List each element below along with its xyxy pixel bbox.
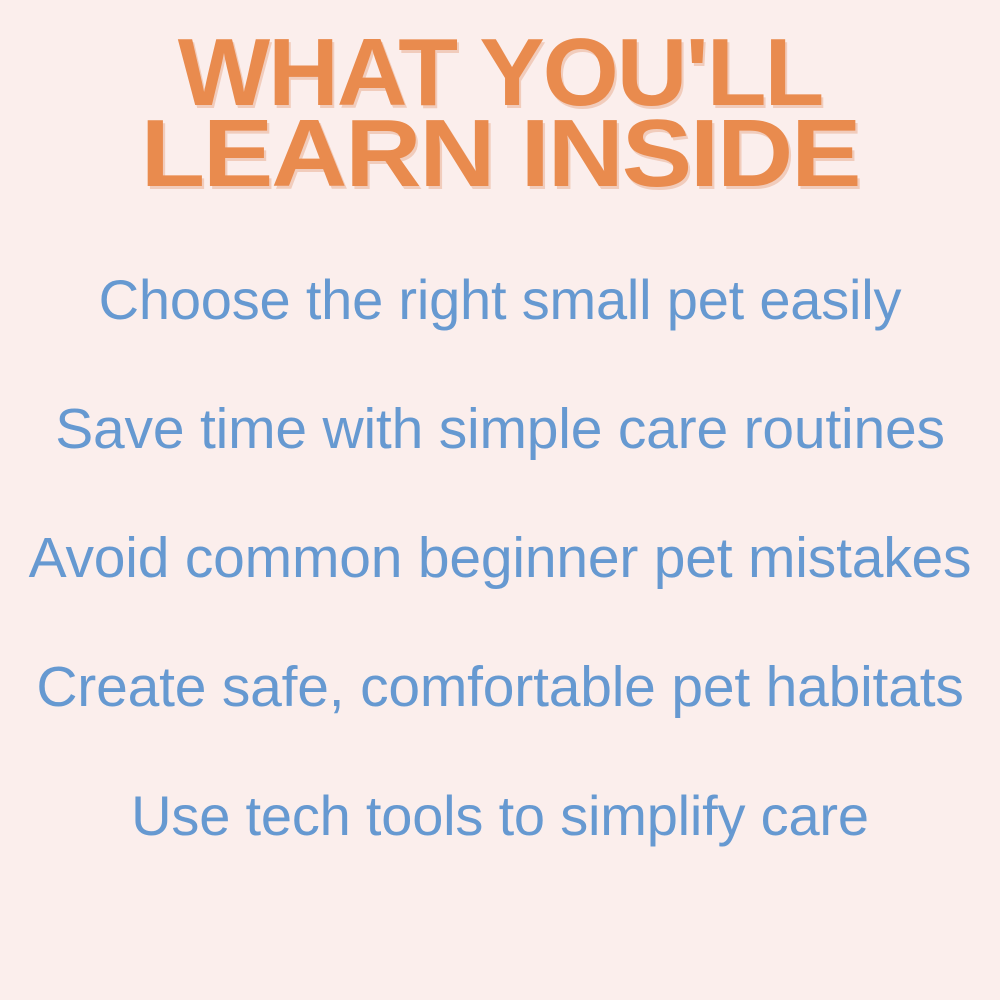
poster-canvas: WHAT YOU'LL LEARN INSIDE Choose the righ… <box>0 0 1000 1000</box>
benefit-list: Choose the right small pet easily Save t… <box>0 272 1000 917</box>
list-item: Use tech tools to simplify care <box>0 788 1000 917</box>
list-item: Create safe, comfortable pet habitats <box>0 659 1000 788</box>
list-item: Avoid common beginner pet mistakes <box>0 530 1000 659</box>
list-item: Choose the right small pet easily <box>0 272 1000 401</box>
list-item: Save time with simple care routines <box>0 401 1000 530</box>
page-title: WHAT YOU'LL LEARN INSIDE <box>0 36 1000 192</box>
page-title-line-2: LEARN INSIDE <box>0 117 1000 192</box>
